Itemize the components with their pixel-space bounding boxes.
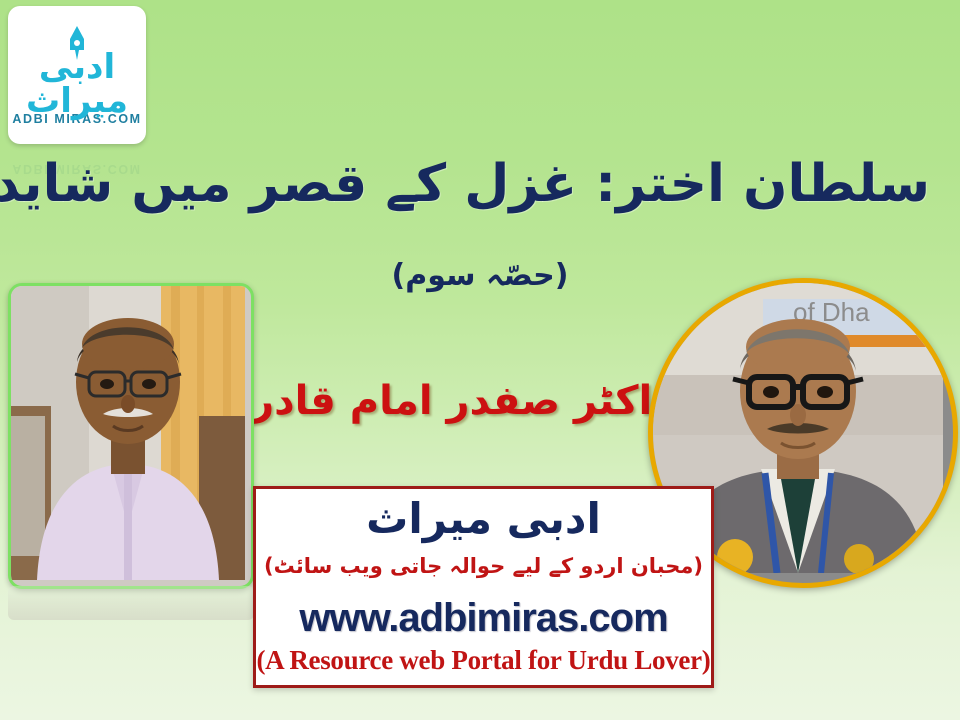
portrait-left-image bbox=[11, 286, 245, 580]
brand-tagline-english: (A Resource web Portal for Urdu Lover) bbox=[256, 645, 711, 676]
site-logo[interactable]: ادبی میراث ADBI MIRAS.COM bbox=[8, 6, 146, 144]
brand-tagline-urdu: (محبان اردو کے لیے حوالہ جاتی ویب سائٹ) bbox=[256, 555, 711, 578]
page-title: سلطان اختر: غزل کے قصر میں شاید ہو آخری … bbox=[70, 152, 930, 217]
logo-urdu-text: ادبی میراث bbox=[17, 50, 137, 118]
brand-name-urdu: ادبی میراث bbox=[256, 497, 711, 541]
portrait-left-reflection bbox=[8, 586, 254, 620]
logo-mark: ادبی میراث bbox=[17, 24, 137, 110]
website-url[interactable]: www.adbimiras.com bbox=[256, 596, 711, 641]
author-name: ڈاکٹر صفدر امام قادری bbox=[270, 378, 670, 424]
poster-canvas: ادبی میراث ADBI MIRAS.COM ADBI MIRAS.COM… bbox=[0, 0, 960, 720]
portrait-left bbox=[8, 283, 254, 589]
brand-footer-box: ادبی میراث (محبان اردو کے لیے حوالہ جاتی… bbox=[253, 486, 714, 688]
